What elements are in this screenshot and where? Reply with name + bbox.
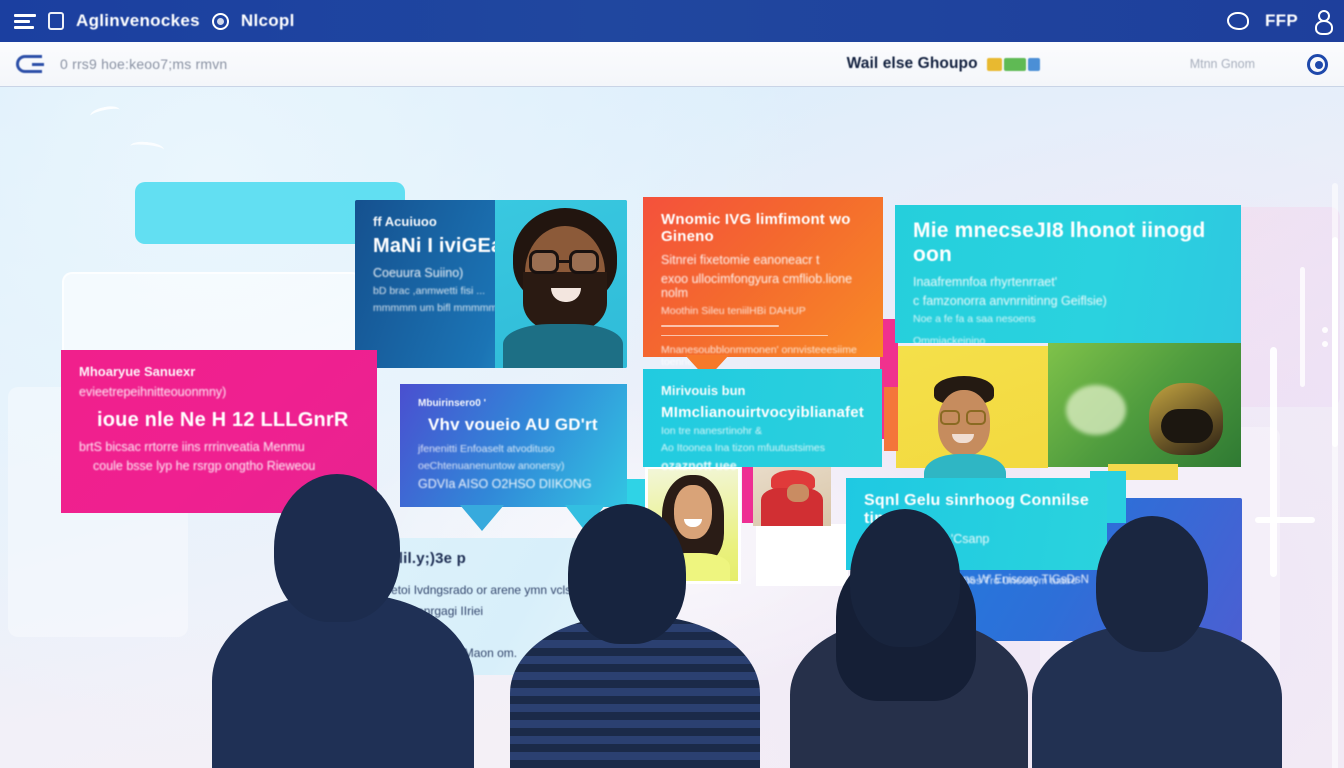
- card-cyan-mid-bubble[interactable]: Mirivouis bun MImclianouirtvocyiblianafe…: [643, 369, 882, 467]
- card-line-3: ozaznott uee: [661, 459, 864, 473]
- card-cyan-headline[interactable]: Mie mnecseJI8 lhonot iinogd oon Inaafrem…: [895, 205, 1241, 343]
- card-line-1: Ion tre nanesrtinohr &: [661, 425, 864, 437]
- card-eyebrow: Mhoaryue Sanuexr: [79, 364, 359, 379]
- card-line-4: Ommiackeinino: [913, 335, 1223, 347]
- glasses-left-icon: [529, 250, 559, 274]
- chip-green-icon: [1004, 58, 1026, 71]
- card-title: ioue nle Ne H 12 LLLGnrR: [79, 409, 359, 432]
- card-divider-1: [661, 325, 779, 327]
- silhouette-viewer-3: [790, 509, 1028, 768]
- head-shape: [850, 509, 960, 647]
- head-shape: [568, 504, 686, 644]
- card-line-2: Ao Itoonea Ina tizon mfuutustsimes: [661, 442, 864, 454]
- glasses-bridge-icon: [559, 260, 571, 263]
- card-divider-2: [661, 335, 828, 336]
- background-bar-2: [1300, 267, 1305, 387]
- silhouette-viewer-2: [510, 504, 760, 768]
- subject-shadow-shape: [1161, 409, 1213, 443]
- brand-label: FFP: [1265, 11, 1298, 31]
- oval-logo-icon: [1227, 12, 1249, 30]
- card-title: Mie mnecseJI8 lhonot iinogd oon: [913, 219, 1223, 267]
- card-line-3: coule bsse lyp he rsrgp ongtho Rieweou: [79, 459, 359, 473]
- application-window: Aglinvenockes Nlcopl FFP 0 rrs9 hoe:keoo…: [0, 0, 1344, 768]
- card-line-3: Moothin Sileu teniilHBi DAHUP: [661, 305, 865, 317]
- canvas-dot-markers: [1322, 327, 1328, 347]
- head-shape: [274, 474, 400, 622]
- share-avatar-icon[interactable]: [1307, 54, 1328, 75]
- glasses-right-icon: [569, 250, 599, 274]
- card-orange-bubble[interactable]: Wnomic IVG limfimont wo Gineno Sitnrei f…: [643, 197, 883, 357]
- head-shape: [1096, 516, 1208, 652]
- card-line-2: oeChtenuanenuntow anonersy): [418, 460, 609, 472]
- card-line-1: jfenenitti Enfoaselt atvodituso: [418, 443, 609, 455]
- card-line-1: Inaafremnfoa rhyrtenrraet': [913, 275, 1223, 289]
- glasses-left-icon: [940, 410, 960, 425]
- back-arrow-icon[interactable]: [16, 55, 42, 73]
- card-line-2: brtS bicsac rrtorre iins rrrinveatia Men…: [79, 440, 359, 454]
- app-name-label: Aglinvenockes: [76, 11, 200, 31]
- background-bird-2-icon: [129, 140, 164, 155]
- card-title: MImclianouirtvocyiblianafet: [661, 404, 864, 421]
- card-eyebrow: Mbuirinsero0 ': [418, 398, 609, 409]
- chip-blue-icon: [1028, 58, 1040, 71]
- shirt-shape: [503, 324, 623, 368]
- slide-canvas: noustenojsxonnons W' Eniscorc TIGsDsN: [0, 87, 1344, 768]
- toolbar-secondary-text: Mtnn Gnom: [1190, 57, 1255, 71]
- card-title: Wnomic IVG limfimont wo Gineno: [661, 211, 865, 245]
- silhouette-viewer-1: [212, 474, 474, 768]
- card-line-3: Noe a fe fa a saa nesoens: [913, 313, 1223, 325]
- circle-target-icon[interactable]: [212, 13, 229, 30]
- canvas-scrollbar-thumb[interactable]: [1332, 237, 1338, 447]
- card-line-1: Sitnrei fixetomie eanoneacr t: [661, 253, 865, 267]
- accent-block-orange: [884, 387, 898, 451]
- document-title-group: Wail else Ghoupo: [847, 55, 1040, 73]
- photo-person-glasses[interactable]: [896, 346, 1048, 468]
- glasses-right-icon: [966, 410, 986, 425]
- photo-speaker-large[interactable]: [495, 200, 627, 368]
- breadcrumb[interactable]: 0 rrs9 hoe:keoo7;ms rmvn: [60, 56, 227, 72]
- person-head: [928, 376, 1000, 468]
- hand-shape: [787, 484, 809, 502]
- title-bar: Aglinvenockes Nlcopl FFP: [0, 0, 1344, 42]
- background-bird-1-icon: [89, 104, 121, 122]
- book-badge-icon[interactable]: [48, 12, 64, 30]
- silhouette-viewer-4: [1032, 516, 1282, 768]
- card-line-2: exoo ullocimfongyura cmfliob.lione nolm: [661, 272, 865, 300]
- person-icon[interactable]: [1314, 10, 1330, 32]
- sub-toolbar: 0 rrs9 hoe:keoo7;ms rmvn Wail else Ghoup…: [0, 42, 1344, 87]
- title-bar-left-group: Aglinvenockes Nlcopl: [14, 11, 295, 31]
- title-bar-right-group: FFP: [1227, 10, 1330, 32]
- card-eyebrow: Mirivouis bun: [661, 383, 864, 398]
- card-line-4: Mnanesoubblonmmonen' onnvisteeesiime toe…: [661, 344, 865, 368]
- chip-yellow-icon: [987, 58, 1002, 71]
- card-title: Vhv voueio AU GD'rt: [418, 415, 609, 435]
- card-line-2: c famzonorra anvnrnitinng Geiflsie): [913, 294, 1223, 308]
- status-chips: [987, 58, 1040, 71]
- foliage-shape: [1066, 385, 1126, 435]
- card-line-1: evieetrepeihnitteouonmny): [79, 385, 359, 399]
- hamburger-lines-icon[interactable]: [14, 14, 36, 29]
- doc-title-prefix: Wail else Ghoupo: [847, 55, 978, 73]
- mode-label: Nlcopl: [241, 11, 295, 31]
- photo-outdoor-green[interactable]: [1048, 343, 1241, 467]
